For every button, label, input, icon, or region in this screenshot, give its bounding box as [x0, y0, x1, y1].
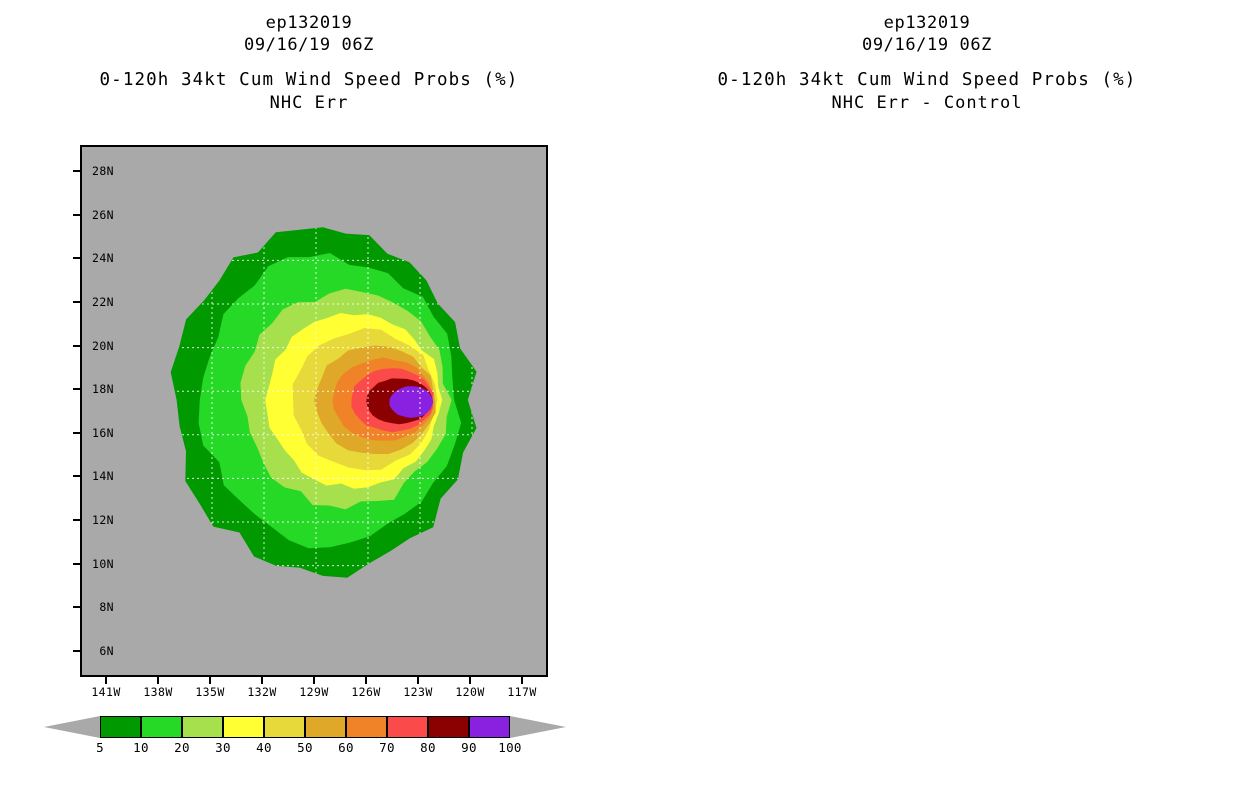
- x-axis-labels-left: 141W138W135W132W129W126W123W120W117W: [80, 683, 548, 703]
- y-tick-left: [73, 214, 80, 216]
- x-axis-label: 141W: [91, 685, 120, 699]
- y-tick-left: [73, 432, 80, 434]
- y-axis-label: 26N: [92, 208, 114, 222]
- y-axis-label: 14N: [92, 469, 114, 483]
- sub-title-left: NHC Err: [0, 92, 618, 114]
- colorbar-probability-under-arrow-icon: [44, 716, 100, 738]
- colorbar-probability-segment[interactable]: [182, 716, 223, 738]
- colorbar-probability-tick-label: 70: [379, 740, 395, 755]
- x-axis-label: 126W: [351, 685, 380, 699]
- colorbar-probability-segment[interactable]: [264, 716, 305, 738]
- x-axis-label: 138W: [143, 685, 172, 699]
- y-tick-left: [73, 345, 80, 347]
- y-tick-left: [73, 519, 80, 521]
- storm-id-right: ep132019: [618, 12, 1236, 34]
- y-tick-left: [73, 170, 80, 172]
- y-axis-label: 22N: [92, 295, 114, 309]
- y-tick-left: [73, 606, 80, 608]
- colorbar-probability-segment[interactable]: [223, 716, 264, 738]
- x-axis-label: 129W: [299, 685, 328, 699]
- colorbar-probability-tick-label: 20: [174, 740, 190, 755]
- colorbar-probability-tick-label: 50: [297, 740, 313, 755]
- gridlines-overlay-left: [82, 147, 548, 677]
- colorbar-probability-segment[interactable]: [346, 716, 387, 738]
- map-plot-nhc-err[interactable]: 28N26N24N22N20N18N16N14N12N10N8N6N 141W1…: [80, 145, 548, 677]
- main-title-left: 0-120h 34kt Cum Wind Speed Probs (%): [0, 68, 618, 92]
- colorbar-probability-segment[interactable]: [141, 716, 182, 738]
- x-axis-label: 117W: [507, 685, 536, 699]
- colorbar-probability[interactable]: 5102030405060708090100: [100, 716, 510, 740]
- y-tick-left: [73, 301, 80, 303]
- main-title-right: 0-120h 34kt Cum Wind Speed Probs (%): [618, 68, 1236, 92]
- x-axis-label: 123W: [403, 685, 432, 699]
- colorbar-probability-tick-label: 90: [461, 740, 477, 755]
- colorbar-probability-segment[interactable]: [387, 716, 428, 738]
- x-tick-left: [261, 677, 263, 684]
- plot-area-left[interactable]: [80, 145, 548, 677]
- x-tick-left: [157, 677, 159, 684]
- y-axis-label: 10N: [92, 557, 114, 571]
- y-axis-labels-left: 28N26N24N22N20N18N16N14N12N10N8N6N: [72, 145, 114, 677]
- x-tick-left: [313, 677, 315, 684]
- colorbar-probability-segment[interactable]: [100, 716, 141, 738]
- y-tick-left: [73, 650, 80, 652]
- colorbar-probability-segment[interactable]: [469, 716, 510, 738]
- x-tick-left: [209, 677, 211, 684]
- colorbar-probability-tick-label: 10: [133, 740, 149, 755]
- colorbar-probability-tick-label: 60: [338, 740, 354, 755]
- y-axis-label: 24N: [92, 251, 114, 265]
- y-axis-label: 16N: [92, 426, 114, 440]
- x-axis-label: 132W: [247, 685, 276, 699]
- y-axis-label: 6N: [99, 644, 114, 658]
- colorbar-probability-segment[interactable]: [428, 716, 469, 738]
- x-tick-left: [521, 677, 523, 684]
- y-axis-label: 20N: [92, 339, 114, 353]
- x-tick-left: [365, 677, 367, 684]
- sub-title-right: NHC Err - Control: [618, 92, 1236, 114]
- panel-right-titles: ep132019 09/16/19 06Z 0-120h 34kt Cum Wi…: [618, 12, 1236, 114]
- datetime-right: 09/16/19 06Z: [618, 34, 1236, 56]
- colorbar-probability-tick-label: 40: [256, 740, 272, 755]
- colorbar-probability-tick-label: 80: [420, 740, 436, 755]
- x-tick-left: [469, 677, 471, 684]
- y-tick-left: [73, 563, 80, 565]
- y-axis-label: 12N: [92, 513, 114, 527]
- colorbar-probability-labels: 5102030405060708090100: [100, 740, 510, 758]
- panel-nhc-err-minus-control: ep132019 09/16/19 06Z 0-120h 34kt Cum Wi…: [618, 0, 1236, 800]
- datetime-left: 09/16/19 06Z: [0, 34, 618, 56]
- x-axis-label: 120W: [455, 685, 484, 699]
- panel-left-titles: ep132019 09/16/19 06Z 0-120h 34kt Cum Wi…: [0, 12, 618, 114]
- colorbar-probability-over-arrow-icon: [510, 716, 566, 738]
- y-axis-label: 8N: [99, 600, 114, 614]
- colorbar-probability-tick-label: 100: [498, 740, 521, 755]
- y-axis-label: 18N: [92, 382, 114, 396]
- y-axis-label: 28N: [92, 164, 114, 178]
- panel-nhc-err: ep132019 09/16/19 06Z 0-120h 34kt Cum Wi…: [0, 0, 618, 800]
- x-tick-left: [417, 677, 419, 684]
- storm-id-left: ep132019: [0, 12, 618, 34]
- colorbar-probability-tick-label: 30: [215, 740, 231, 755]
- y-tick-left: [73, 388, 80, 390]
- x-axis-label: 135W: [195, 685, 224, 699]
- colorbar-probability-tick-label: 5: [96, 740, 104, 755]
- colorbar-probability-segment[interactable]: [305, 716, 346, 738]
- y-tick-left: [73, 257, 80, 259]
- x-tick-left: [105, 677, 107, 684]
- y-tick-left: [73, 475, 80, 477]
